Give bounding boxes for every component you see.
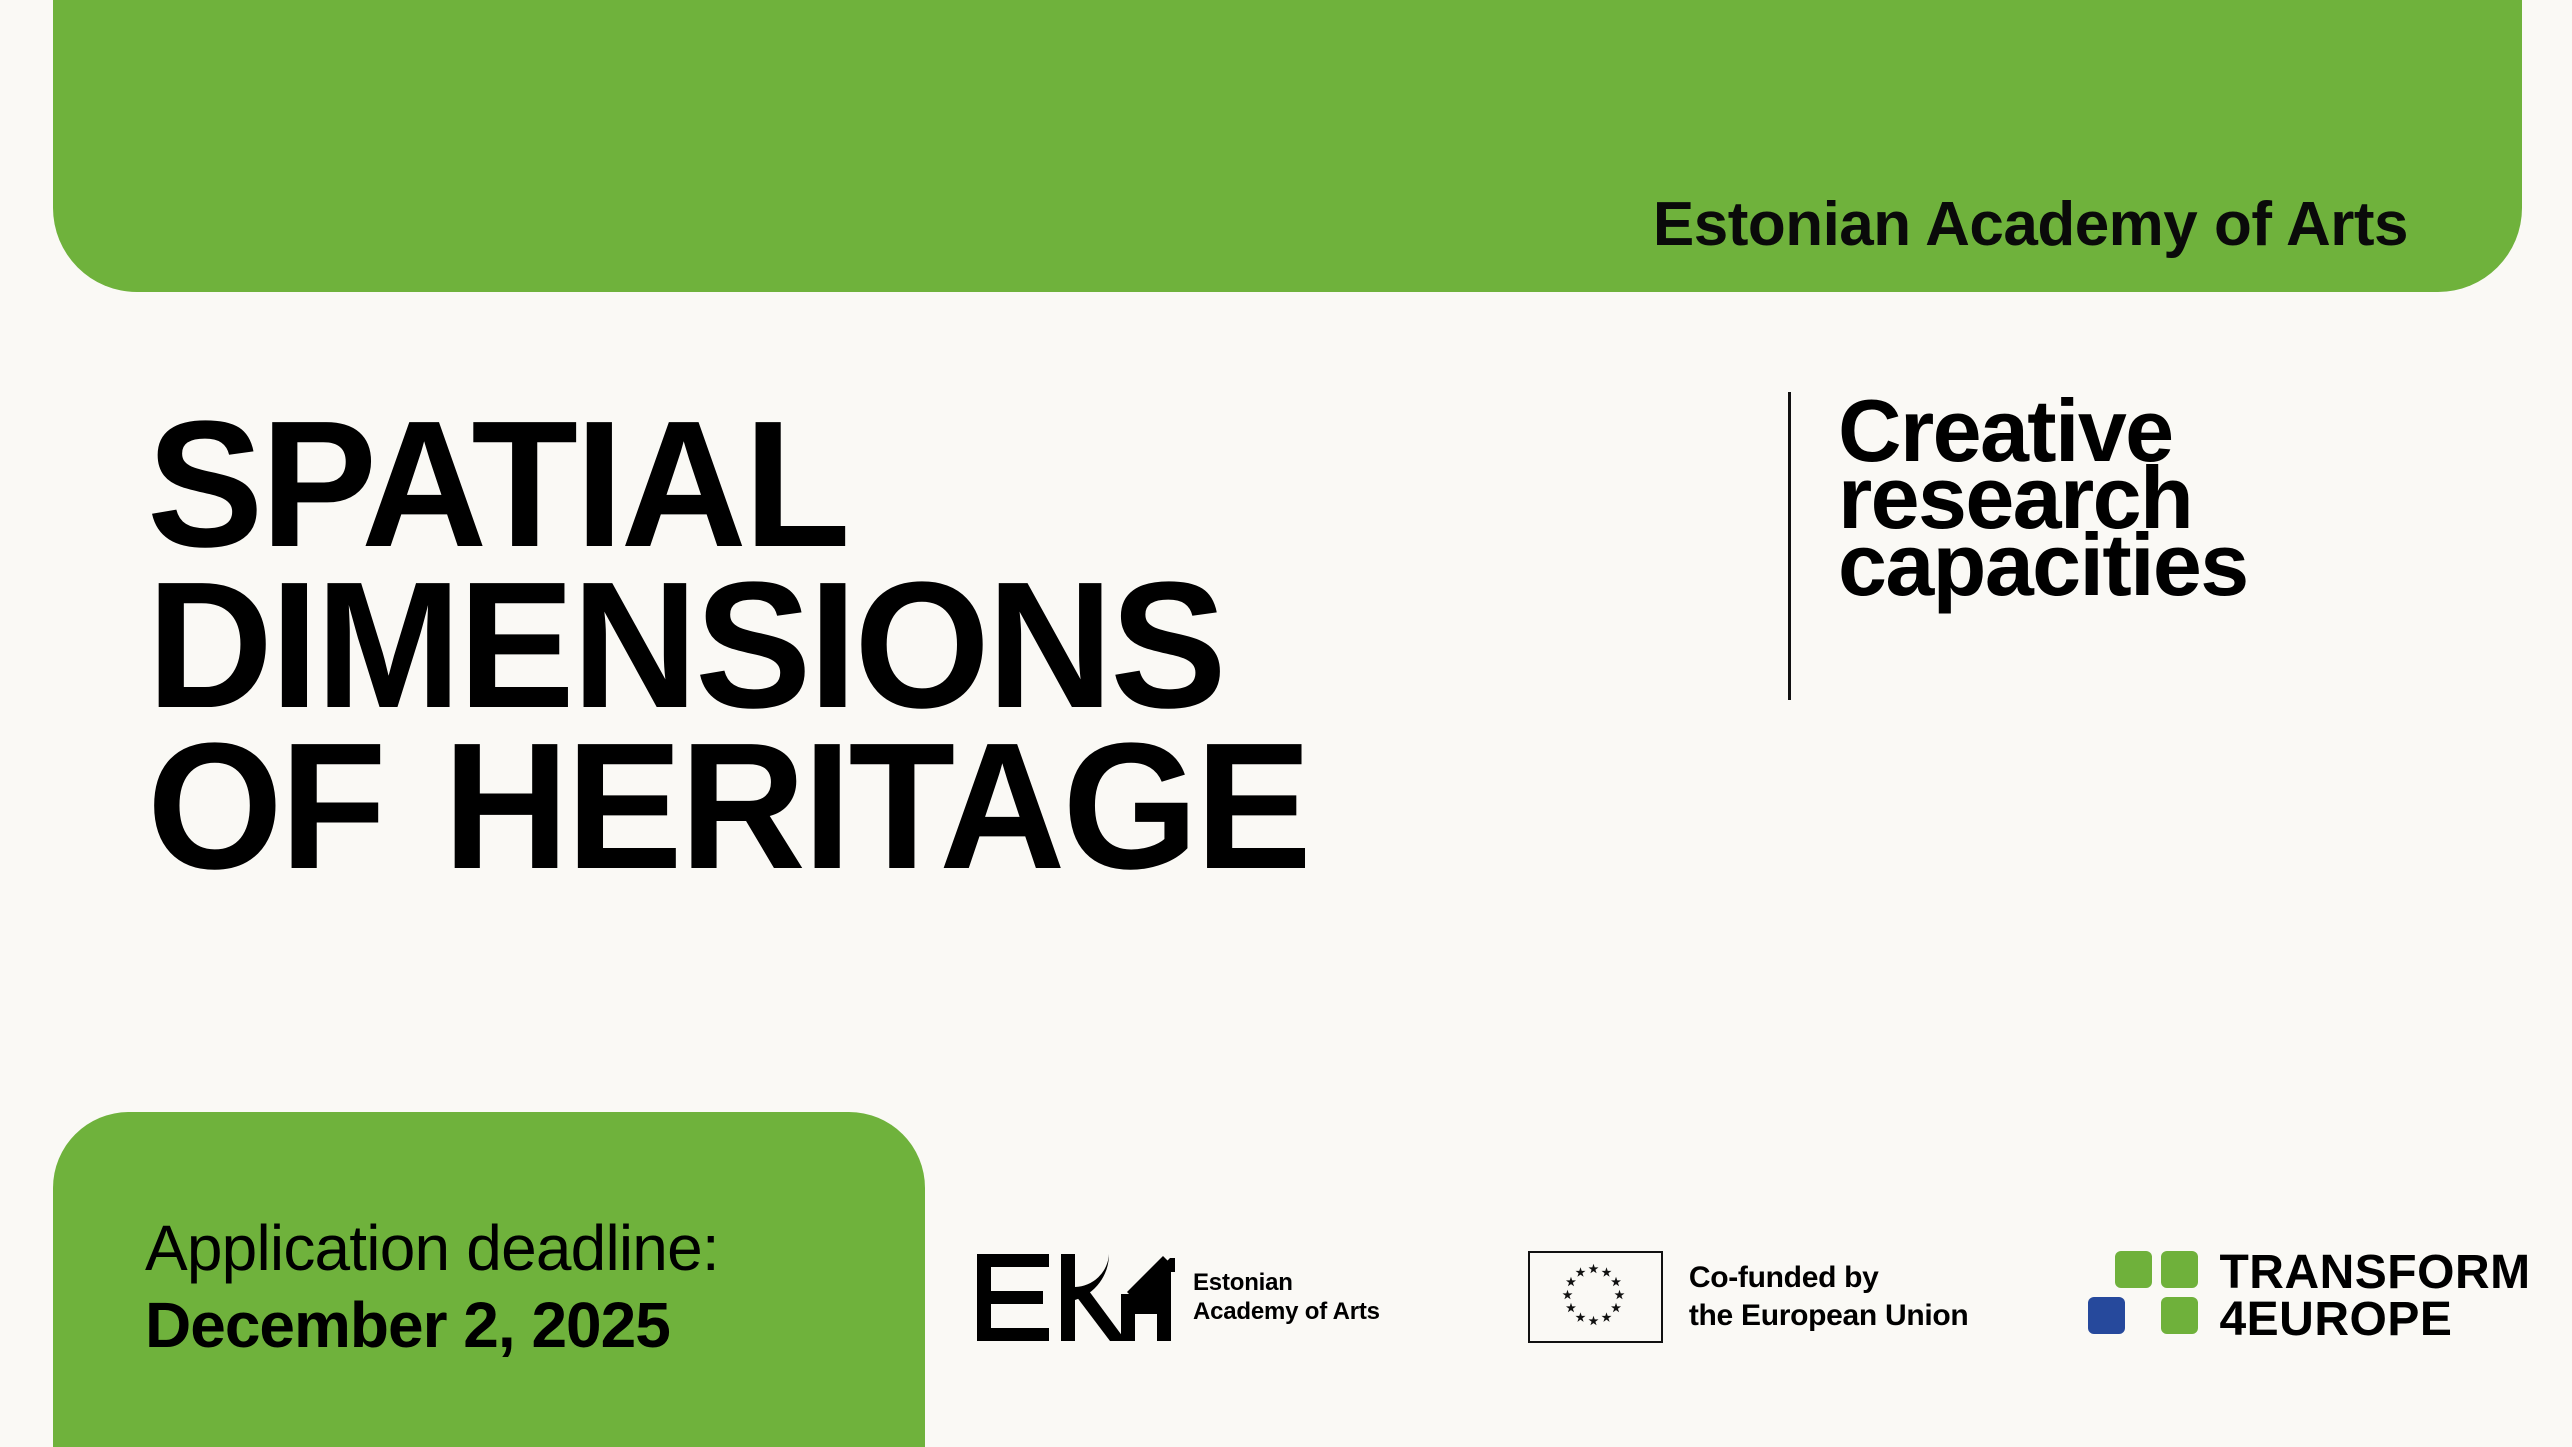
- subtitle-block: Creative research capacities: [1788, 392, 2248, 700]
- eka-monogram-icon: [975, 1252, 1175, 1342]
- application-deadline-card: Application deadline: December 2, 2025: [53, 1112, 925, 1447]
- eka-logo: Estonian Academy of Arts: [975, 1252, 1380, 1342]
- headline-line-3-word-1: OF: [147, 706, 384, 907]
- headline-line-1: SPATIAL: [147, 404, 1309, 565]
- square-top-left: [2115, 1251, 2152, 1288]
- logo-strip: Estonian Academy of Arts: [975, 1232, 2531, 1362]
- deadline-label: Application deadline:: [145, 1216, 719, 1281]
- eu-flag-icon: [1528, 1251, 1663, 1343]
- poster-canvas: Estonian Academy of Arts SPATIAL DIMENSI…: [0, 0, 2572, 1447]
- deadline-content: Application deadline: December 2, 2025: [145, 1216, 719, 1359]
- deadline-date: December 2, 2025: [145, 1293, 719, 1358]
- eu-cofunding-logo: Co-funded by the European Union: [1528, 1251, 1969, 1343]
- page-title: SPATIAL DIMENSIONS OFHERITAGE: [147, 404, 1309, 887]
- t4e-line-2: 4EUROPE: [2219, 1297, 2530, 1344]
- eu-text-line-2: the European Union: [1689, 1297, 1969, 1335]
- square-top-right: [2161, 1251, 2198, 1288]
- headline-line-3-word-2: HERITAGE: [443, 706, 1309, 907]
- headline-line-2: DIMENSIONS: [147, 565, 1309, 726]
- eu-cofunding-text: Co-funded by the European Union: [1689, 1259, 1969, 1335]
- eu-text-line-1: Co-funded by: [1689, 1259, 1969, 1297]
- square-bottom-right: [2161, 1297, 2198, 1334]
- header-institution-title: Estonian Academy of Arts: [1653, 194, 2408, 256]
- subtitle-text: Creative research capacities: [1838, 392, 2248, 599]
- eka-wordmark-line-1: Estonian: [1193, 1268, 1380, 1297]
- eka-wordmark: Estonian Academy of Arts: [1193, 1268, 1380, 1327]
- t4e-line-1: TRANSFORM: [2219, 1250, 2530, 1297]
- headline-line-3: OFHERITAGE: [147, 726, 1309, 887]
- transform4europe-wordmark: TRANSFORM 4EUROPE: [2219, 1250, 2530, 1343]
- subtitle-line-3: capacities: [1838, 532, 2248, 599]
- subtitle-divider-rule: [1788, 392, 1791, 700]
- four-squares-icon: [2088, 1251, 2171, 1343]
- header-banner: Estonian Academy of Arts: [53, 0, 2522, 292]
- eka-wordmark-line-2: Academy of Arts: [1193, 1297, 1380, 1326]
- square-bottom-left: [2088, 1297, 2125, 1334]
- transform4europe-logo: TRANSFORM 4EUROPE: [2088, 1250, 2530, 1343]
